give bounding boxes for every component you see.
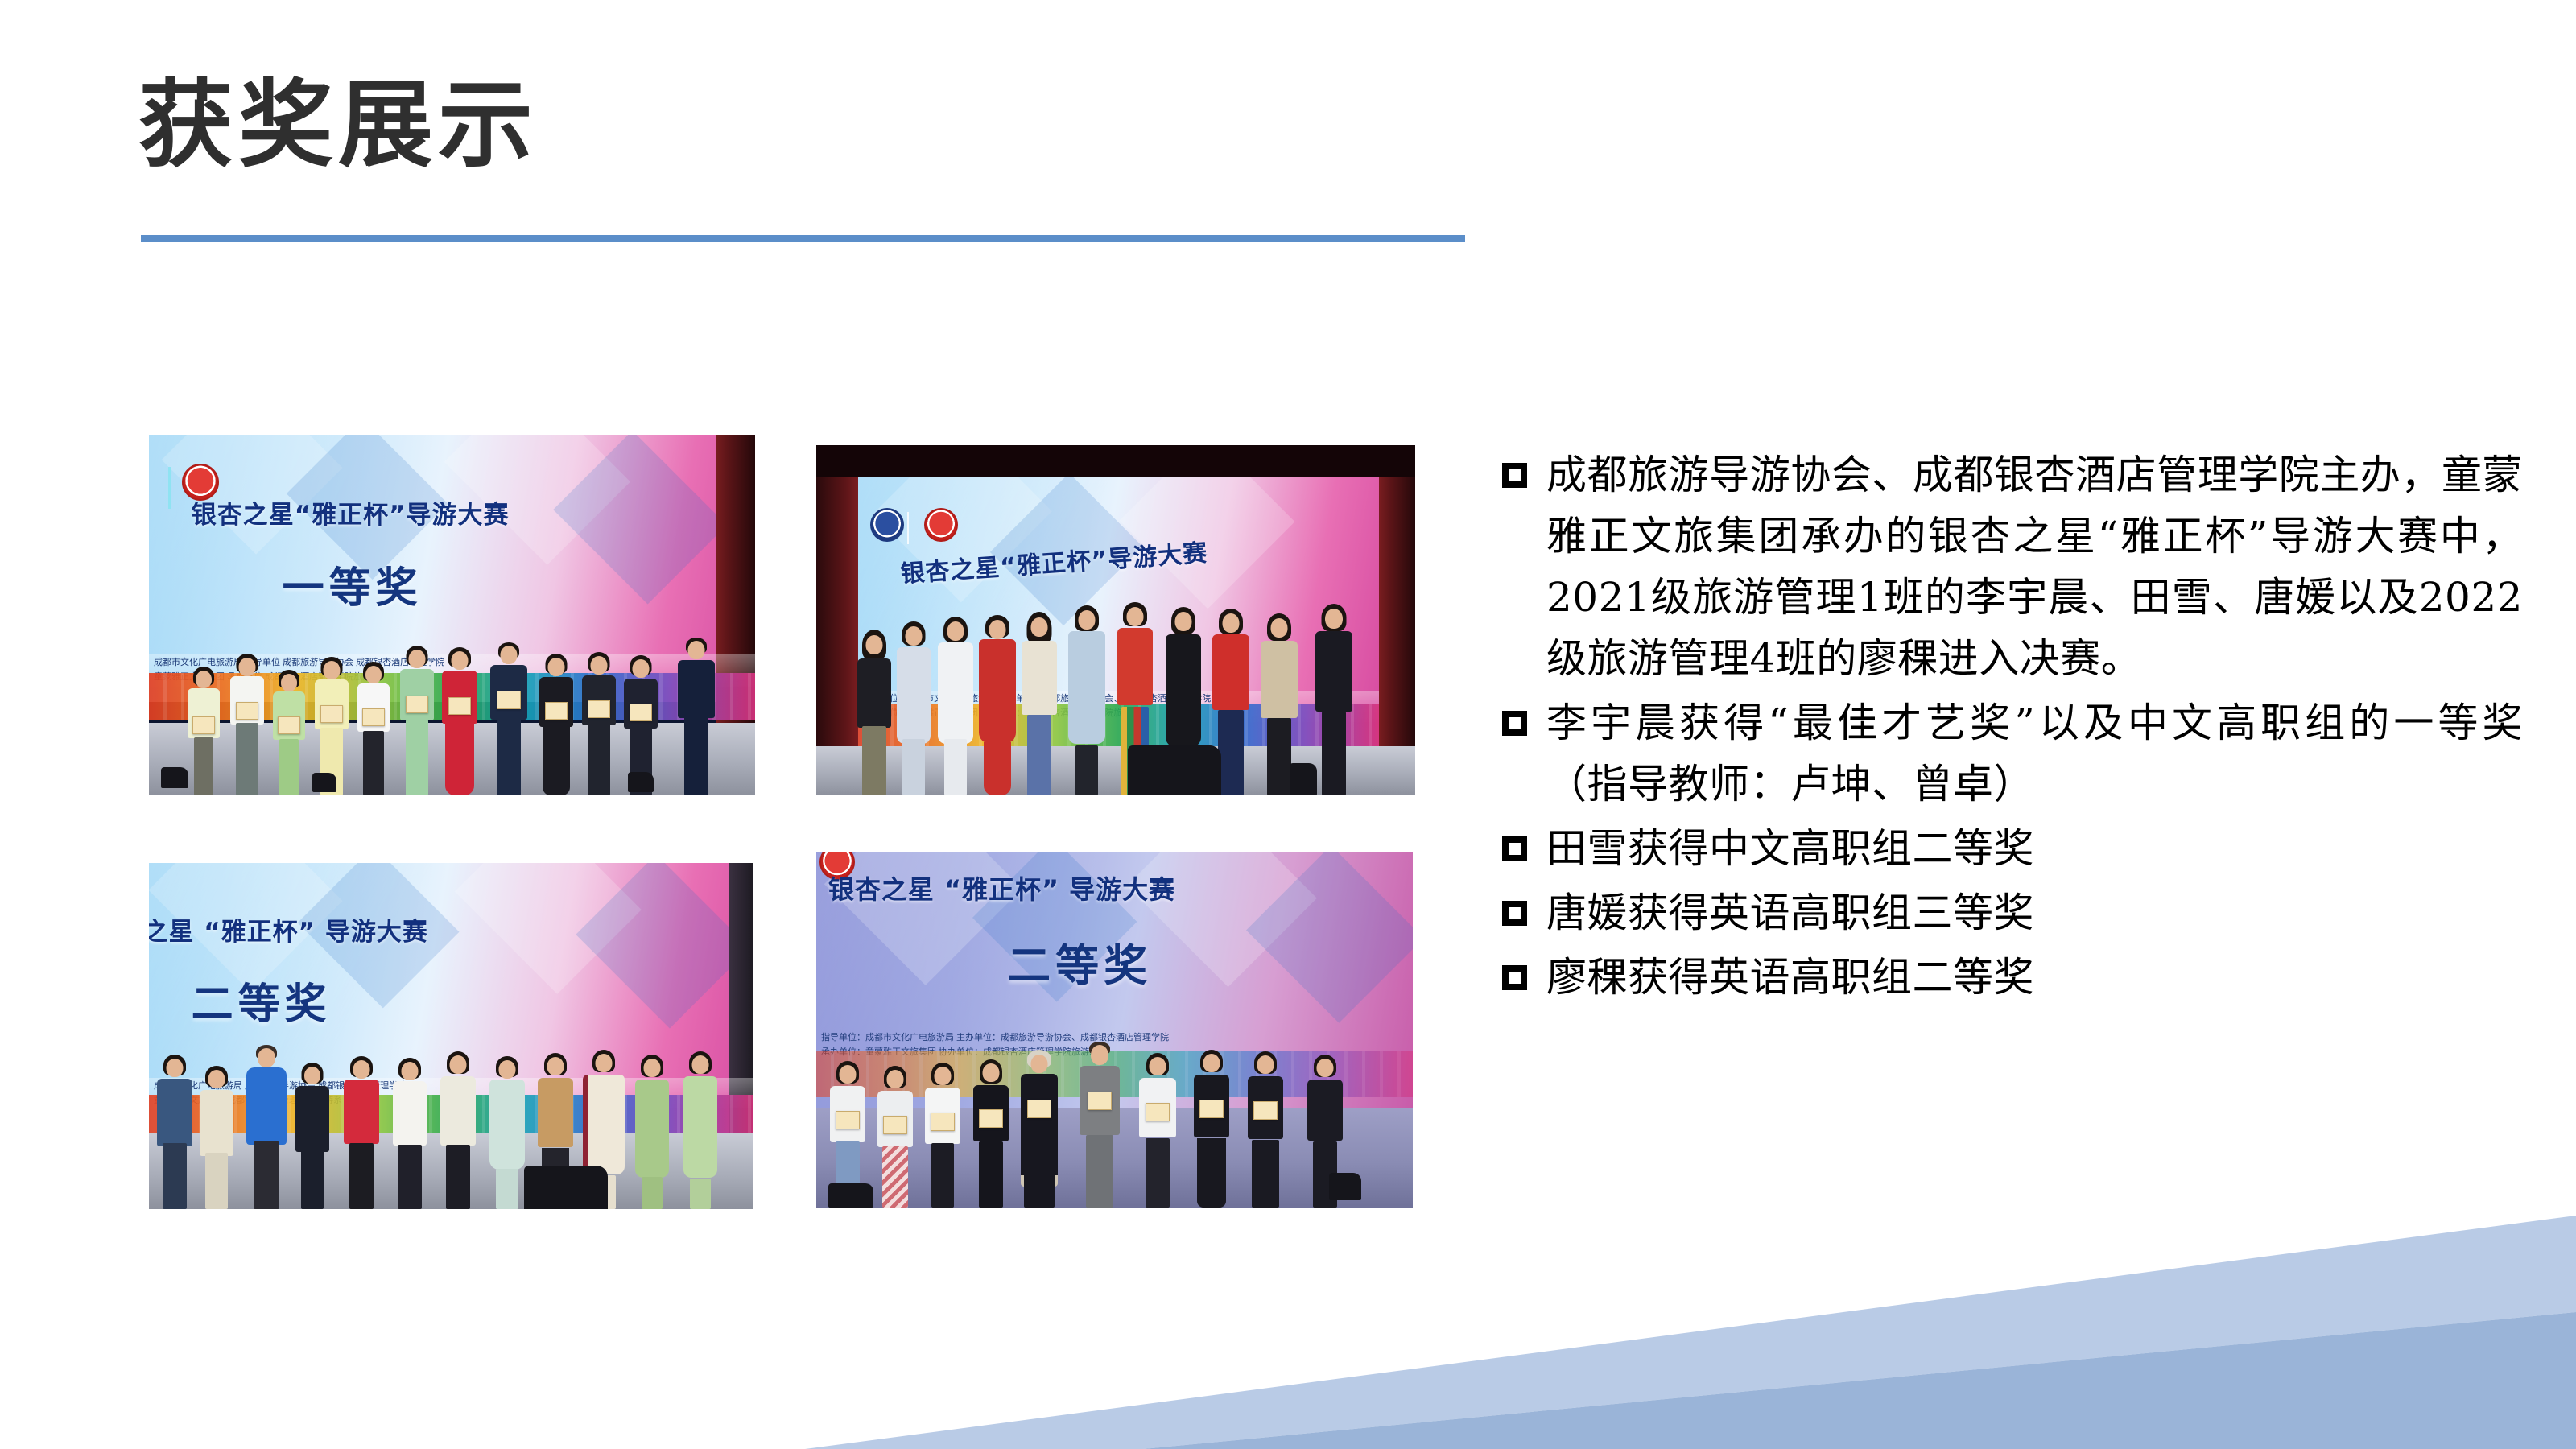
person-figure [246,1045,287,1209]
person-figure [855,630,894,795]
person-figure [972,1059,1010,1207]
person-figure [936,617,975,795]
photo-prize-text: 二等奖 [1007,930,1152,993]
photo-banner-text: 之星 “雅正杯” 导游大赛 [149,911,428,947]
stage-monitor [1290,763,1317,795]
hollow-square-bullet-icon [1502,965,1527,990]
hollow-square-bullet-icon [1502,836,1527,861]
person-figure [342,1056,381,1209]
decor-band-light [805,1216,2576,1449]
title-underline-rule [141,235,1465,242]
stage-monitor [524,1166,608,1209]
stage-surround-top [816,445,1415,477]
person-figure [489,642,529,795]
stage-surround-left [816,445,858,795]
photo-first-prize-group[interactable]: 银杏之星“雅正杯”导游大赛 一等奖 成都市文化广电旅游局 指导单位 成都旅游导游… [149,435,755,795]
stage-monitor [828,1183,873,1207]
list-item-label: 成都旅游导游协会、成都银杏酒店管理学院主办，童蒙雅正文旅集团承办的银杏之星“雅正… [1546,444,2523,689]
person-figure [1020,612,1059,795]
award-summary-list: 成都旅游导游协会、成都银杏酒店管理学院主办，童蒙雅正文旅集团承办的银杏之星“雅正… [1502,444,2523,1011]
person-figure [398,646,436,795]
stage-monitor [312,773,336,792]
list-item: 李宇晨获得“最佳才艺奖”以及中文高职组的一等奖（指导教师：卢坤、曾卓） [1502,692,2523,815]
association-emblem-icon [924,508,958,542]
slide-canvas: 获奖展示 银杏之星“雅正杯”导游大赛 一等奖 成都市文化广电旅游局 指导单位 成… [0,0,2576,1449]
person-figure [185,667,222,795]
person-figure [923,1063,962,1207]
person-figure [355,662,392,795]
photo-second-prize-group-a[interactable]: 之星 “雅正杯” 导游大赛 二等奖 成都市文化广电旅游局 成都旅游导游协会 成都… [149,863,753,1209]
person-figure [580,652,618,795]
photo-banner-text: 银杏之星 “雅正杯” 导游大赛 [828,869,1175,906]
person-figure [440,647,480,795]
person-figure [270,670,308,795]
decor-band-dark [1143,1312,2576,1449]
list-item: 田雪获得中文高职组二等奖 [1502,818,2523,879]
list-item-label: 唐媛获得英语高职组三等奖 [1546,882,2523,943]
person-figure [155,1055,194,1209]
person-figure [294,1063,331,1209]
person-figure [1246,1051,1285,1207]
stage-monitor [1128,745,1221,795]
person-figure [876,1066,914,1207]
person-figure [894,621,933,795]
photo-contestants-lineup[interactable]: 银杏之星“雅正杯”导游大赛 指导单位：成都市文化广电旅游局 主办单位：成都旅游导… [816,445,1415,795]
person-figure [228,654,266,795]
photo-banner-text: 银杏之星“雅正杯”导游大赛 [192,494,510,530]
photo-prize-text: 一等奖 [283,554,423,614]
emblem-divider [907,512,909,544]
page-title: 获奖展示 [138,71,538,180]
person-figure [676,638,716,795]
person-figure [1067,605,1106,795]
person-figure [439,1051,477,1209]
hollow-square-bullet-icon [1502,901,1527,926]
list-item-label: 田雪获得中文高职组二等奖 [1546,818,2523,879]
stage-monitor [1329,1173,1361,1200]
list-item: 唐媛获得英语高职组三等奖 [1502,882,2523,943]
hollow-square-bullet-icon [1502,463,1527,488]
person-figure [978,615,1017,795]
person-figure [488,1056,526,1209]
list-item-label: 廖稞获得英语高职组二等奖 [1546,947,2523,1008]
person-figure [537,654,576,795]
stage-monitor [628,772,654,792]
person-figure [1138,1053,1177,1207]
person-figure [1079,1042,1121,1207]
hollow-square-bullet-icon [1502,711,1527,736]
person-figure [633,1055,671,1209]
stage-surround-right [1379,445,1415,795]
person-figure [681,1051,720,1209]
photo-second-prize-group-b[interactable]: 银杏之星 “雅正杯” 导游大赛 二等奖 指导单位：成都市文化广电旅游局 主办单位… [816,852,1413,1207]
list-item: 廖稞获得英语高职组二等奖 [1502,947,2523,1008]
list-item: 成都旅游导游协会、成都银杏酒店管理学院主办，童蒙雅正文旅集团承办的银杏之星“雅正… [1502,444,2523,689]
person-figure [197,1066,236,1209]
person-figure [1192,1050,1231,1207]
college-emblem-icon [870,508,904,542]
photo-prize-text: 二等奖 [192,970,332,1030]
person-figure [390,1058,429,1209]
list-item-label: 李宇晨获得“最佳才艺奖”以及中文高职组的一等奖（指导教师：卢坤、曾卓） [1546,692,2523,815]
person-figure [1314,604,1354,795]
emblem-divider [168,467,171,509]
stage-monitor [161,767,188,788]
person-figure [1019,1050,1059,1207]
